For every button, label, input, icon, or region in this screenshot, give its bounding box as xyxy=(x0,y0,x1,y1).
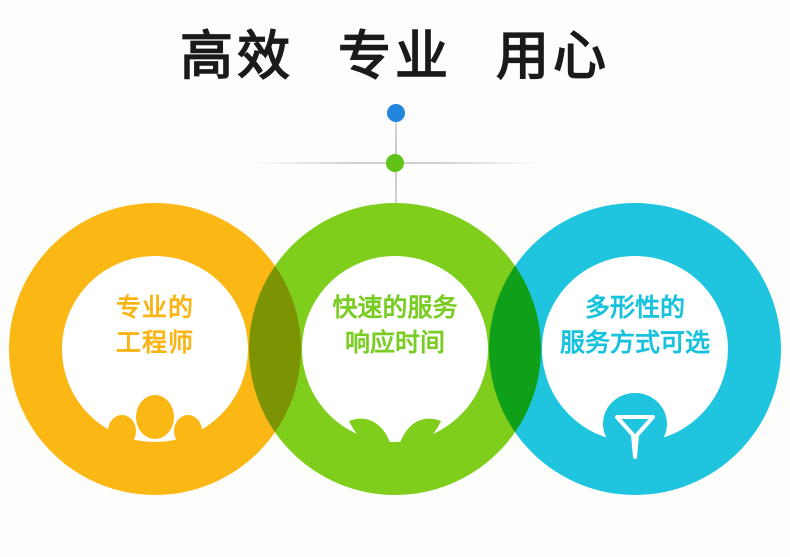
circle-service-modes-line-1: 多形性的 xyxy=(489,291,781,326)
circle-service-modes-line-2: 服务方式可选 xyxy=(489,326,781,361)
lightbulb-icon xyxy=(575,391,695,483)
people-icon xyxy=(95,391,215,483)
sprout-icon xyxy=(335,391,455,483)
circle-service-modes-text: 多形性的 服务方式可选 xyxy=(489,291,781,360)
infographic-canvas: 高效专业用心 专业的 工程师 xyxy=(0,0,790,557)
circle-service-modes[interactable]: 多形性的 服务方式可选 xyxy=(489,203,781,495)
